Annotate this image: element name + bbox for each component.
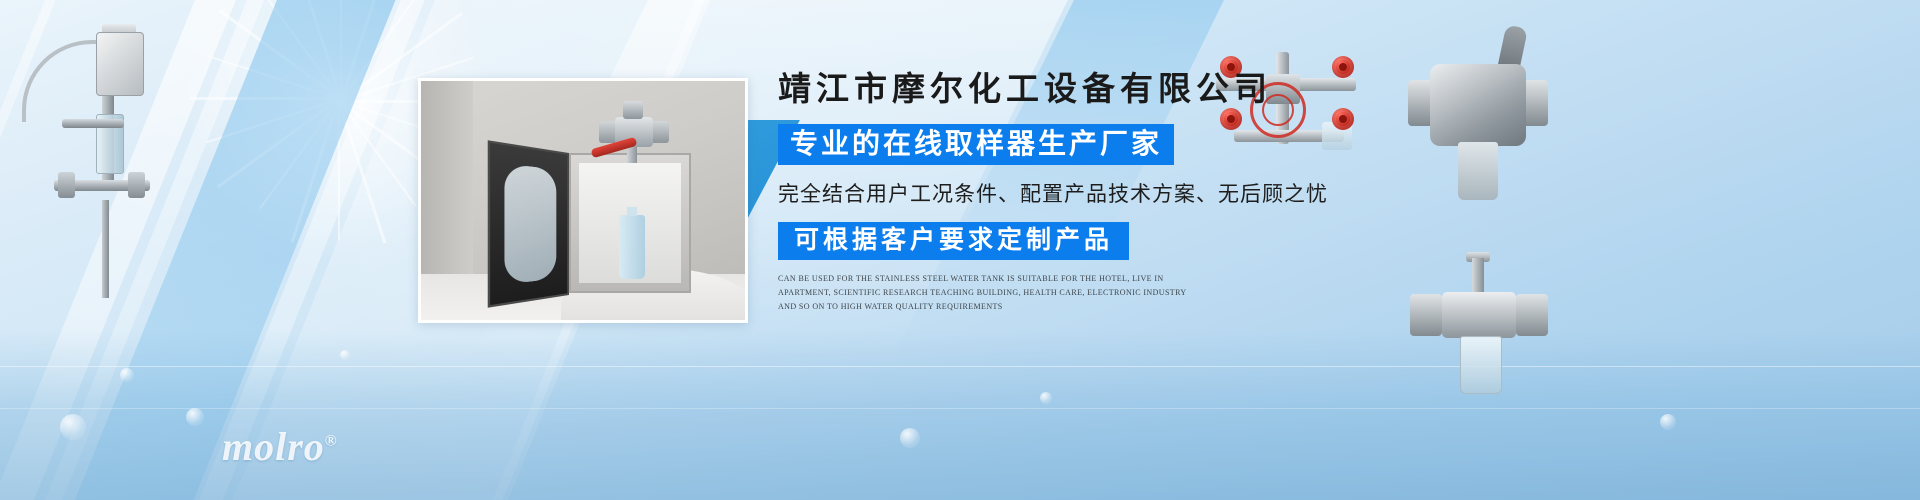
product-image-left — [10, 18, 190, 298]
watermark-text: molro — [222, 424, 325, 469]
bubble — [120, 368, 134, 382]
custom-product-highlight: 可根据客户要求定制产品 — [778, 222, 1129, 260]
company-name: 靖江市摩尔化工设备有限公司 — [778, 72, 1418, 110]
bubble — [186, 408, 204, 426]
registered-mark-icon: ® — [325, 433, 338, 450]
brand-watermark: molro® — [222, 423, 338, 470]
hero-banner: 靖江市摩尔化工设备有限公司 专业的在线取样器生产厂家 完全结合用户工况条件、配置… — [0, 0, 1920, 500]
bubble — [1040, 392, 1052, 404]
banner-subline: 完全结合用户工况条件、配置产品技术方案、无后顾之忧 — [778, 181, 1418, 208]
bubble — [340, 350, 350, 360]
banner-text-block: 靖江市摩尔化工设备有限公司 专业的在线取样器生产厂家 完全结合用户工况条件、配置… — [778, 72, 1418, 314]
english-fineprint: CAN BE USED FOR THE STAINLESS STEEL WATE… — [778, 272, 1198, 314]
headline-highlight: 专业的在线取样器生产厂家 — [778, 124, 1174, 165]
bubble — [900, 428, 920, 448]
product-photo-center — [418, 78, 748, 323]
floor-gradient — [0, 330, 1920, 500]
bubble — [1660, 414, 1676, 430]
product-image-right-bottom — [1404, 252, 1564, 412]
bubble — [60, 414, 86, 440]
product-image-right-mid — [1408, 22, 1558, 222]
